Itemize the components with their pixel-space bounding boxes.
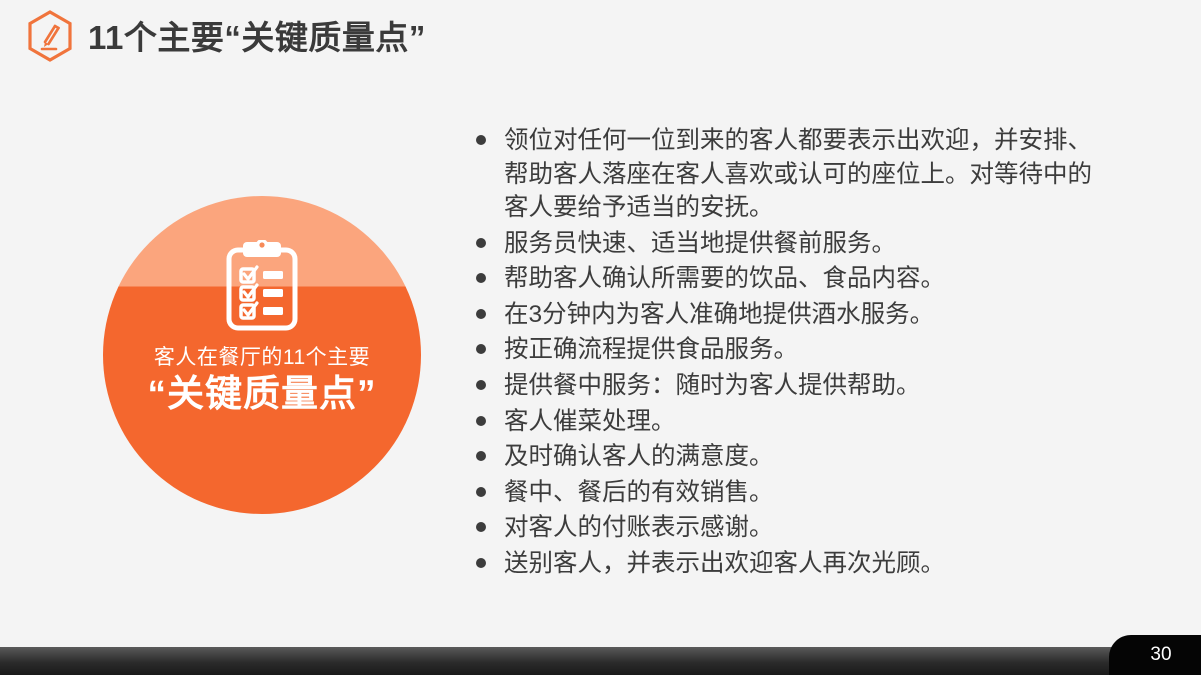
list-item-text: 帮助客人确认所需要的饮品、食品内容。: [504, 265, 945, 292]
highlight-circle: 客人在餐厅的11个主要 “关键质量点”: [103, 196, 421, 514]
list-item: 送别客人，并表示出欢迎客人再次光顾。: [474, 547, 1094, 581]
circle-caption-line-1: 客人在餐厅的11个主要: [154, 346, 370, 369]
list-item-text: 提供餐中服务：随时为客人提供帮助。: [504, 372, 921, 399]
list-item-text: 领位对任何一位到来的客人都要表示出欢迎，并安排、帮助客人落座在客人喜欢或认可的座…: [504, 127, 1092, 221]
page-title: 11个主要“关键质量点”: [88, 21, 426, 54]
list-item-text: 对客人的付账表示感谢。: [504, 514, 774, 541]
bullet-dot-icon: [476, 238, 486, 248]
bullet-dot-icon: [476, 273, 486, 283]
list-item-text: 餐中、餐后的有效销售。: [504, 479, 774, 506]
bullet-dot-icon: [476, 380, 486, 390]
key-quality-points-list: 领位对任何一位到来的客人都要表示出欢迎，并安排、帮助客人落座在客人喜欢或认可的座…: [474, 124, 1094, 582]
slide-header: 11个主要“关键质量点”: [22, 8, 426, 64]
footer-bar: [0, 647, 1140, 675]
list-item: 在3分钟内为客人准确地提供酒水服务。: [474, 298, 1094, 332]
list-item: 提供餐中服务：随时为客人提供帮助。: [474, 369, 1094, 403]
list-item: 按正确流程提供食品服务。: [474, 333, 1094, 367]
bullet-dot-icon: [476, 416, 486, 426]
list-item: 对客人的付账表示感谢。: [474, 511, 1094, 545]
list-item: 领位对任何一位到来的客人都要表示出欢迎，并安排、帮助客人落座在客人喜欢或认可的座…: [474, 124, 1094, 225]
bullet-dot-icon: [476, 135, 486, 145]
list-item: 服务员快速、适当地提供餐前服务。: [474, 227, 1094, 261]
bullet-dot-icon: [476, 451, 486, 461]
list-item: 餐中、餐后的有效销售。: [474, 476, 1094, 510]
page-number-tab: 30: [1109, 635, 1201, 675]
circle-caption-line-2: “关键质量点”: [148, 373, 377, 416]
list-item-text: 送别客人，并表示出欢迎客人再次光顾。: [504, 550, 945, 577]
bullet-dot-icon: [476, 558, 486, 568]
bullet-dot-icon: [476, 344, 486, 354]
list-item-text: 按正确流程提供食品服务。: [504, 336, 798, 363]
list-item: 及时确认客人的满意度。: [474, 440, 1094, 474]
clipboard-checklist-icon: [224, 240, 300, 332]
list-item-text: 及时确认客人的满意度。: [504, 443, 774, 470]
list-item: 客人催菜处理。: [474, 405, 1094, 439]
slide-canvas: 11个主要“关键质量点”: [0, 0, 1201, 675]
page-number: 30: [1138, 645, 1171, 666]
hexagon-pencil-icon: [22, 8, 78, 64]
bullet-dot-icon: [476, 522, 486, 532]
bullet-dot-icon: [476, 309, 486, 319]
list-item-text: 服务员快速、适当地提供餐前服务。: [504, 230, 896, 257]
list-item-text: 客人催菜处理。: [504, 408, 676, 435]
list-item: 帮助客人确认所需要的饮品、食品内容。: [474, 262, 1094, 296]
list-item-text: 在3分钟内为客人准确地提供酒水服务。: [504, 301, 934, 328]
bullet-dot-icon: [476, 487, 486, 497]
